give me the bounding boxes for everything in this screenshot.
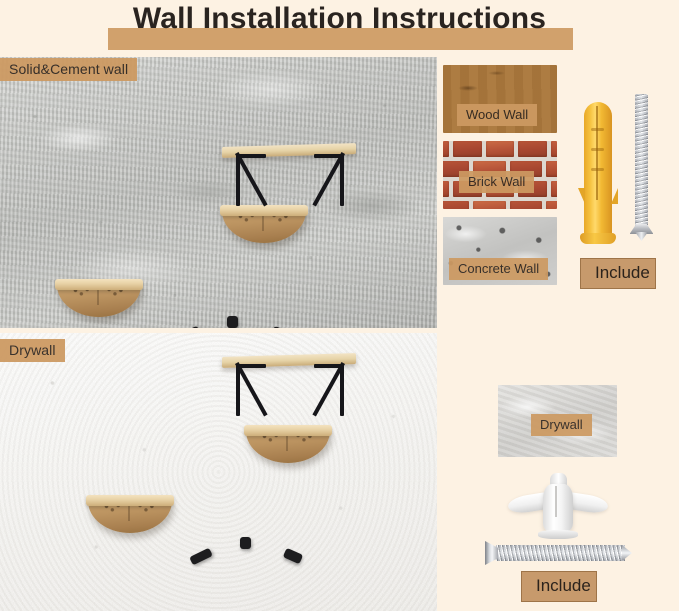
- wood-screw: [635, 94, 648, 234]
- photo-drywall: Drywall: [0, 333, 437, 611]
- title-section: Wall Installation Instructions: [0, 0, 679, 56]
- swatch-label-brick: Brick Wall: [459, 171, 534, 193]
- shelf-bracket-right: [314, 364, 344, 416]
- half-moon-shelf: [222, 205, 306, 243]
- bridge-grip: [240, 537, 251, 549]
- bracket-wall-shelf: [222, 145, 356, 207]
- shelf-bracket-left: [236, 154, 266, 206]
- swatch-label-drywall: Drywall: [531, 414, 592, 436]
- include-badge-drywall: Include: [521, 571, 597, 602]
- shelf-bracket-left: [236, 364, 266, 416]
- badge-drywall: Drywall: [0, 339, 65, 362]
- half-moon-shelf: [88, 495, 172, 533]
- half-moon-shelf: [246, 425, 330, 463]
- page-title: Wall Installation Instructions: [0, 2, 679, 35]
- curved-cat-bridge: [152, 304, 298, 328]
- photo-solid-cement-wall: Solid&Cement wall: [0, 57, 437, 328]
- swatch-label-wood: Wood Wall: [457, 104, 537, 126]
- swatch-drywall: Drywall: [498, 385, 617, 457]
- badge-solid-cement-wall: Solid&Cement wall: [0, 58, 137, 81]
- swatch-brick-wall: Brick Wall: [443, 141, 557, 209]
- swatch-concrete-wall: Concrete Wall: [443, 217, 557, 285]
- curved-cat-bridge: [162, 525, 312, 611]
- include-badge-solid: Include: [580, 258, 656, 289]
- yellow-expansion-anchor: [584, 92, 612, 244]
- white-toggle-anchor: [510, 473, 606, 539]
- bracket-wall-shelf: [222, 355, 356, 417]
- swatch-label-concrete: Concrete Wall: [449, 258, 548, 280]
- bridge-grip: [227, 316, 238, 328]
- half-moon-shelf: [57, 279, 141, 317]
- wood-screw: [485, 545, 632, 561]
- swatch-wood-wall: Wood Wall: [443, 65, 557, 133]
- shelf-bracket-right: [314, 154, 344, 206]
